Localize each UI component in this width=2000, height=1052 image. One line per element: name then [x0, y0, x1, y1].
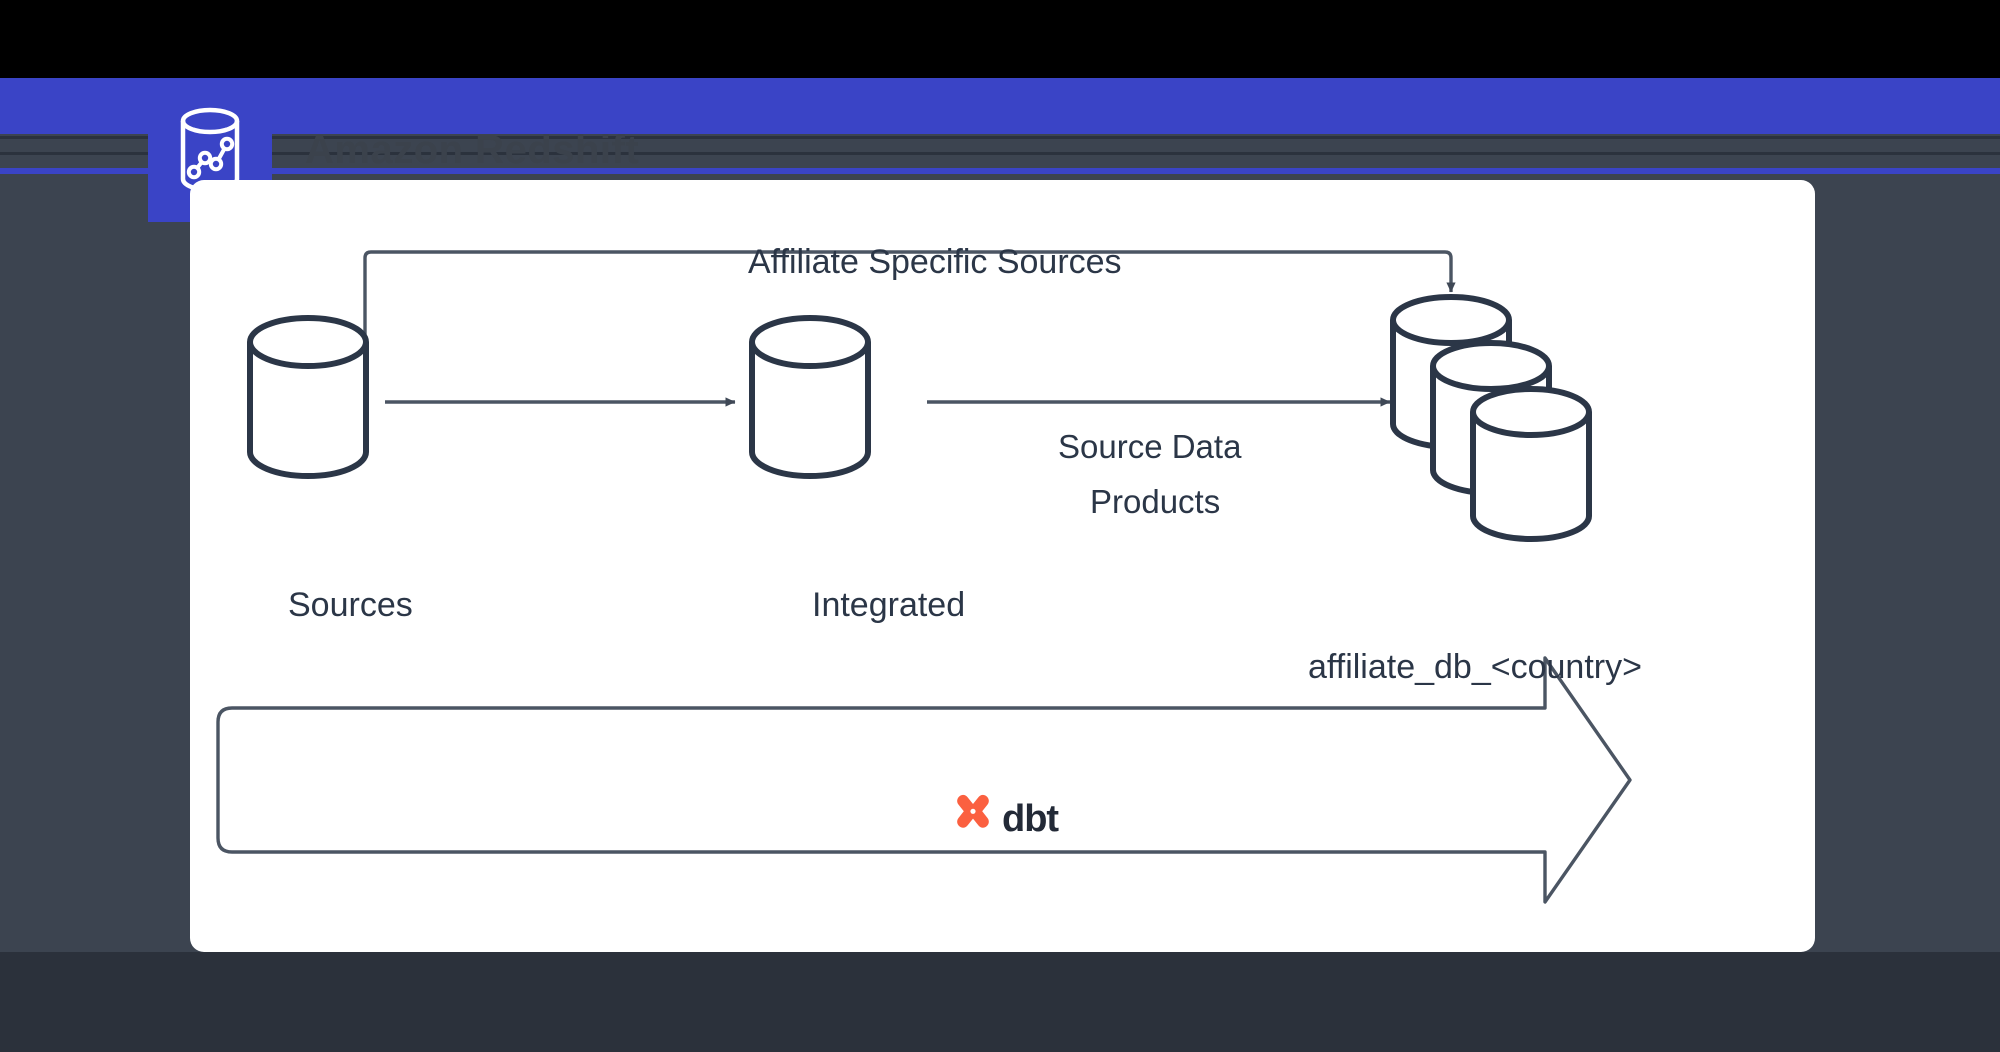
node-label-integrated: Integrated — [812, 588, 965, 622]
header-hairline-blue — [0, 168, 2000, 174]
node-label-affiliate-db: affiliate_db_<country> — [1308, 650, 1642, 684]
bottom-band — [0, 952, 2000, 1052]
cylinder-front — [1473, 389, 1589, 539]
header-hairline-top — [0, 136, 2000, 139]
top-letterbox — [0, 0, 2000, 78]
header-bar — [0, 78, 2000, 134]
dbt-arrow-banner — [218, 658, 1630, 902]
node-label-sources: Sources — [288, 588, 413, 622]
dbt-x-mark-icon — [950, 792, 996, 843]
node-integrated-cylinder — [752, 318, 868, 476]
header-hairline-mid — [0, 152, 2000, 155]
screenshot-root: Amazon Redshift — [0, 0, 2000, 1052]
page-title: Amazon Redshift — [305, 130, 639, 170]
edge-label-source-data: Source Data — [1058, 430, 1241, 463]
edge-label-affiliate-specific-sources: Affiliate Specific Sources — [748, 245, 1122, 279]
edge-label-products: Products — [1090, 485, 1220, 518]
dbt-wordmark: dbt — [1002, 800, 1058, 838]
dbt-logo-lockup: dbt — [950, 792, 1058, 843]
node-sources-cylinder — [250, 318, 366, 476]
node-affiliate-db-cylinder-stack — [1393, 297, 1589, 539]
